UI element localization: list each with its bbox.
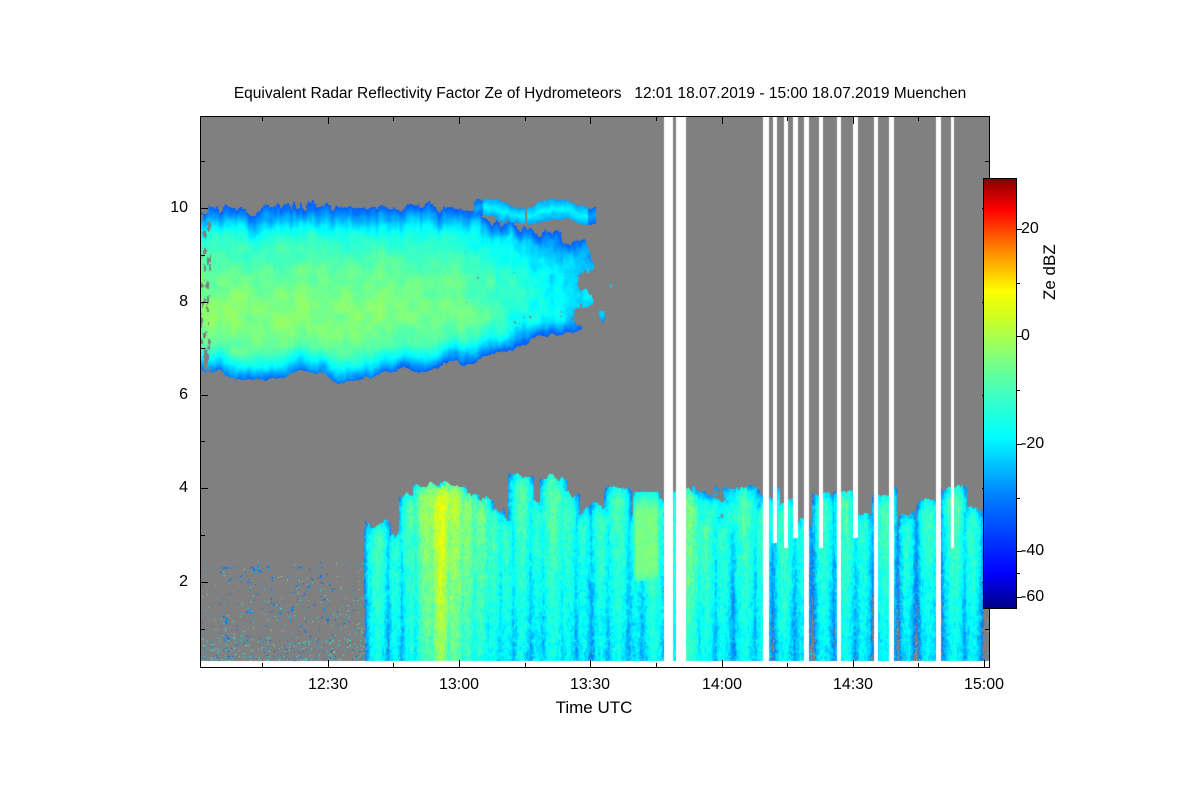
xtick-minor-1315 <box>525 663 526 667</box>
xtick-top-1230 <box>328 117 329 124</box>
xtick-minor-1345 <box>656 663 657 667</box>
xtick-minor-1445 <box>918 663 919 667</box>
xtick-label-1330: 13:30 <box>550 676 630 694</box>
ytick-minor-9 <box>201 255 205 256</box>
xtick-minor-1215 <box>262 663 263 667</box>
ytick-label-8: 8 <box>148 293 188 311</box>
cbtick-label-minus40: -40 <box>1021 542 1044 560</box>
ytick-right-minor-11 <box>985 161 989 162</box>
ytick-label-4: 4 <box>148 479 188 497</box>
xtick-top-1430 <box>853 117 854 124</box>
xtick-1430 <box>853 660 854 667</box>
ytick-minor-11 <box>201 161 205 162</box>
xtick-1400 <box>722 660 723 667</box>
reflectivity-heatmap <box>201 117 989 667</box>
ytick-minor-1 <box>201 629 205 630</box>
xtick-label-1230: 12:30 <box>288 676 368 694</box>
ytick-minor-5 <box>201 441 205 442</box>
xtick-top-1330 <box>590 117 591 124</box>
xtick-top-minor-1445 <box>918 117 919 121</box>
xtick-top-minor-1415 <box>787 117 788 121</box>
ytick-label-10: 10 <box>148 199 188 217</box>
xtick-label-1430: 14:30 <box>813 676 893 694</box>
ytick-label-2: 2 <box>148 573 188 591</box>
xtick-top-1400 <box>722 117 723 124</box>
cbtick-minor-minus50 <box>1016 573 1020 574</box>
xtick-top-minor-1245 <box>393 117 394 121</box>
figure-title: Equivalent Radar Reflectivity Factor Ze … <box>0 85 1200 103</box>
colorbar <box>983 178 1017 609</box>
xtick-1500 <box>984 660 985 667</box>
xtick-minor-1245 <box>393 663 394 667</box>
ytick-10 <box>201 208 208 209</box>
cbtick-label-minus20: -20 <box>1021 435 1044 453</box>
ytick-minor-7 <box>201 348 205 349</box>
xtick-label-1500: 15:00 <box>944 676 1024 694</box>
colorbar-gradient <box>984 179 1016 608</box>
cbtick-minor-10 <box>1016 283 1020 284</box>
xtick-1330 <box>590 660 591 667</box>
ytick-4 <box>201 488 208 489</box>
ytick-8 <box>201 302 208 303</box>
xtick-minor-1415 <box>787 663 788 667</box>
xtick-top-1300 <box>459 117 460 124</box>
plot-area <box>200 116 990 668</box>
ytick-label-6: 6 <box>148 386 188 404</box>
cbtick-minor-minus30 <box>1016 498 1020 499</box>
ytick-2 <box>201 582 208 583</box>
ytick-right-minor-1 <box>985 629 989 630</box>
colorbar-title: Ze dBZ <box>1040 244 1060 300</box>
x-axis-title: Time UTC <box>200 698 988 718</box>
radar-reflectivity-figure: Equivalent Radar Reflectivity Factor Ze … <box>0 0 1200 800</box>
xtick-1230 <box>328 660 329 667</box>
xtick-label-1400: 14:00 <box>682 676 762 694</box>
cbtick-minor-minus10 <box>1016 390 1020 391</box>
xtick-label-1300: 13:00 <box>419 676 499 694</box>
xtick-top-minor-1215 <box>262 117 263 121</box>
xtick-top-minor-1345 <box>656 117 657 121</box>
xtick-top-minor-1315 <box>525 117 526 121</box>
cbtick-label-20: 20 <box>1021 220 1039 238</box>
ytick-minor-3 <box>201 535 205 536</box>
ytick-6 <box>201 395 208 396</box>
cbtick-label-minus60: -60 <box>1021 588 1044 606</box>
xtick-1300 <box>459 660 460 667</box>
cbtick-label-0: 0 <box>1021 327 1030 345</box>
